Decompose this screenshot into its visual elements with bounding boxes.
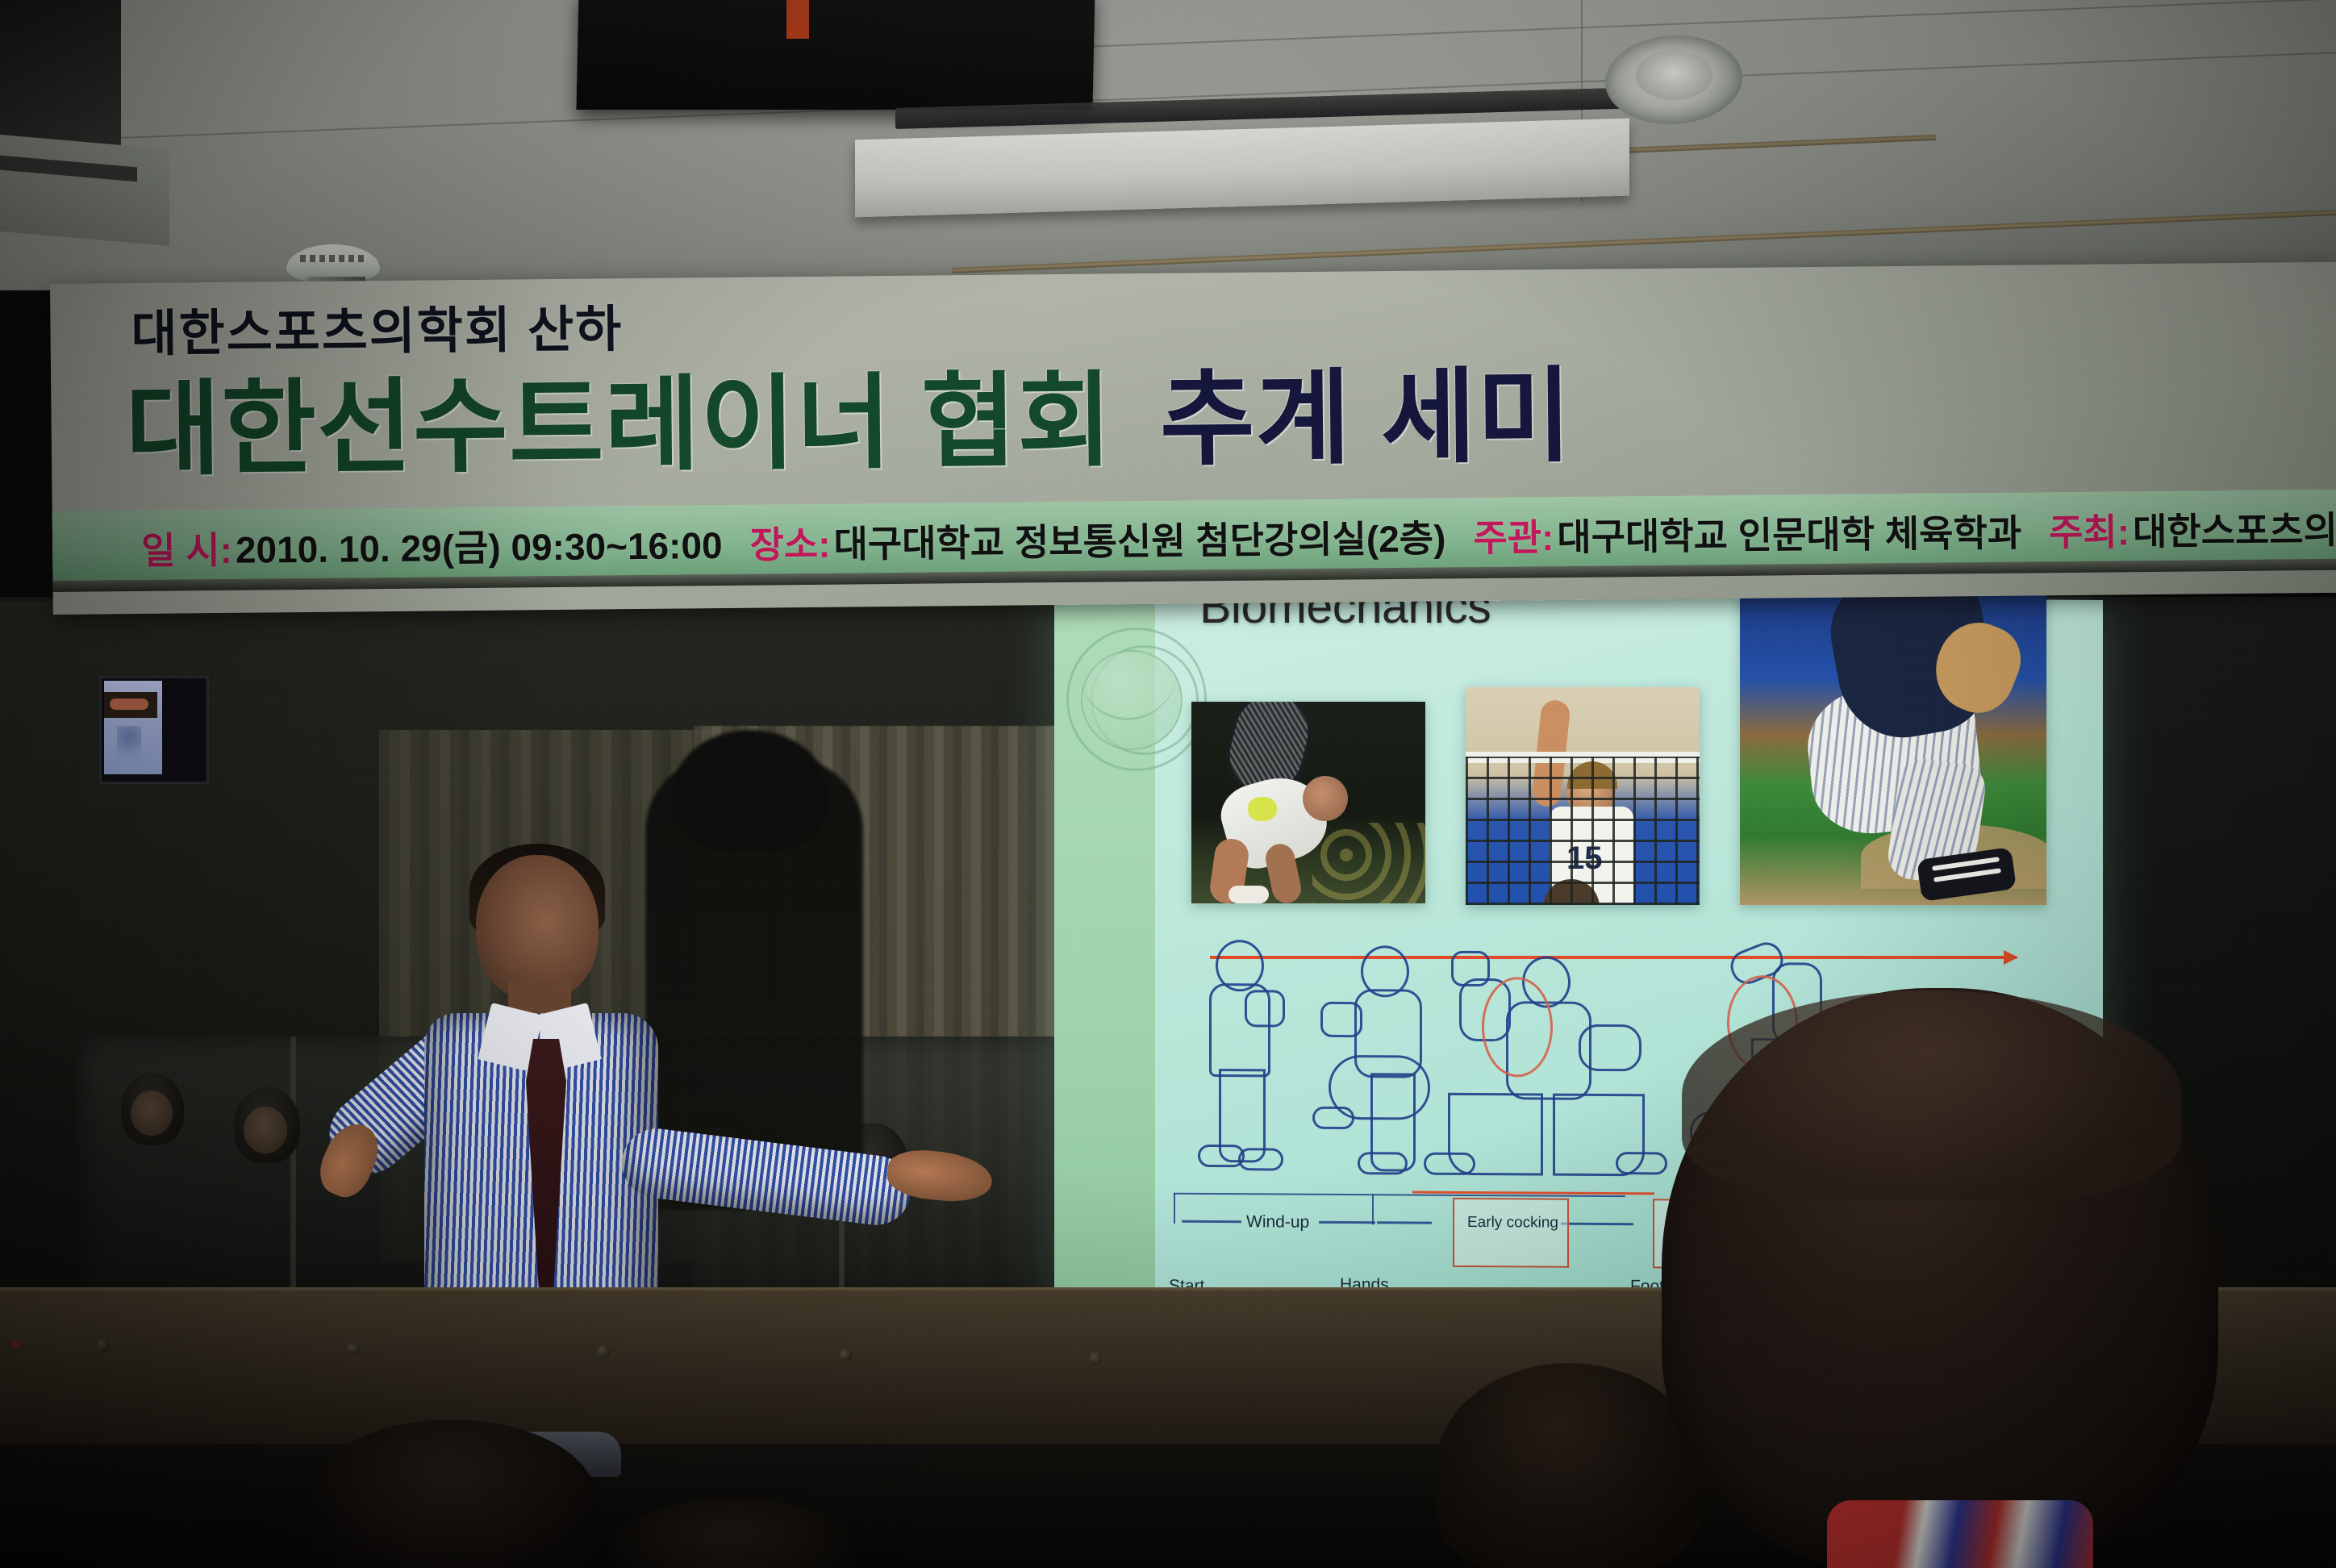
stage-panel-bolt xyxy=(1089,1352,1102,1365)
figure-hands xyxy=(1245,990,1285,1027)
figure-shoe xyxy=(1616,1152,1667,1174)
stage-panel-bolt xyxy=(597,1345,610,1358)
presenter-raised-hand xyxy=(311,1116,387,1204)
banner-venue-value: 대구대학교 정보통신원 첨단강의실(2층) xyxy=(833,517,1445,565)
tennis-jersey-logo xyxy=(1248,797,1277,821)
projector-label-sticker xyxy=(786,0,809,39)
tennis-player-head xyxy=(1303,776,1348,821)
timeline-bar xyxy=(1182,1220,1241,1223)
figure-shoe xyxy=(1238,1148,1283,1170)
banner-host-value: 대구대학교 인문대학 체육학과 xyxy=(1557,512,2021,559)
wall-monitor-figure xyxy=(117,726,141,761)
figure-shoe xyxy=(1198,1145,1245,1167)
phase-bar-early-cocking xyxy=(1453,1198,1569,1268)
stage-panel-bolt xyxy=(839,1349,852,1362)
audience-face xyxy=(131,1091,173,1136)
shoulder-highlight-ellipse xyxy=(1482,977,1553,1078)
presenter-head xyxy=(476,855,599,1000)
figure-shoe xyxy=(1424,1153,1475,1175)
phase-label-early-cocking: Early cocking xyxy=(1467,1214,1558,1232)
banner-organizer-value: 대한스포츠의학회, 대한선수트레이 xyxy=(2133,506,2336,553)
stage-panel-bolt xyxy=(347,1342,360,1355)
banner-venue-label: 장소: xyxy=(749,523,830,566)
audience-striped-collar xyxy=(1827,1500,2093,1568)
audience-hair-highlight xyxy=(1682,990,2182,1200)
audience-head-foreground xyxy=(1436,1363,1702,1568)
stage-indicator-led xyxy=(11,1341,19,1349)
banner-organizer-label: 주최: xyxy=(2049,511,2130,553)
tennis-serve-photo xyxy=(1191,702,1425,903)
timeline-bar xyxy=(1319,1221,1375,1224)
banner-host-label: 주관: xyxy=(1473,516,1554,559)
audience-head-foreground xyxy=(307,1420,597,1568)
seminar-banner: 대한스포츠의학회 산하 대한선수트레이너 협회추계 세미 일 시:2010. 1… xyxy=(50,262,2336,615)
ceiling-vent xyxy=(0,135,169,246)
banner-title-green: 대한선수트레이너 협회 xyxy=(125,363,1113,488)
presenter-pointing-arm xyxy=(618,1124,915,1228)
photograph-scene: Biomechanics 15 xyxy=(0,0,2336,1568)
ceiling-projector xyxy=(576,0,1095,110)
volleyball-net xyxy=(1466,757,1700,905)
tennis-crowd-bokeh xyxy=(1312,823,1425,903)
figure-shoe xyxy=(1358,1152,1408,1174)
timeline-tick xyxy=(1372,1194,1374,1224)
timeline-tick xyxy=(1174,1193,1175,1224)
figure-shoe xyxy=(1312,1107,1354,1129)
banner-date-label: 일 시: xyxy=(141,529,232,572)
wall-monitor-image-blob xyxy=(110,699,148,710)
timeline-bar xyxy=(1561,1223,1633,1226)
banner-date-value: 2010. 10. 29(금) 09:30~16:00 xyxy=(236,524,723,571)
timeline-bar xyxy=(1377,1221,1432,1224)
smoke-detector-vents xyxy=(300,255,366,262)
volleyball-block-photo: 15 xyxy=(1466,687,1700,905)
baseball-pitcher-photo xyxy=(1740,590,2046,905)
stage-panel-bolt xyxy=(97,1339,110,1352)
figure-glove-arm xyxy=(1579,1024,1641,1071)
figure-glove-hand xyxy=(1320,1002,1362,1037)
tennis-player-shoe xyxy=(1228,886,1269,903)
banner-title-navy: 추계 세미 xyxy=(1159,359,1573,478)
banner-title: 대한선수트레이너 협회추계 세미 xyxy=(125,332,1573,495)
recessed-downlight-lens xyxy=(1636,50,1712,100)
phase-label-windup: Wind-up xyxy=(1246,1212,1309,1232)
